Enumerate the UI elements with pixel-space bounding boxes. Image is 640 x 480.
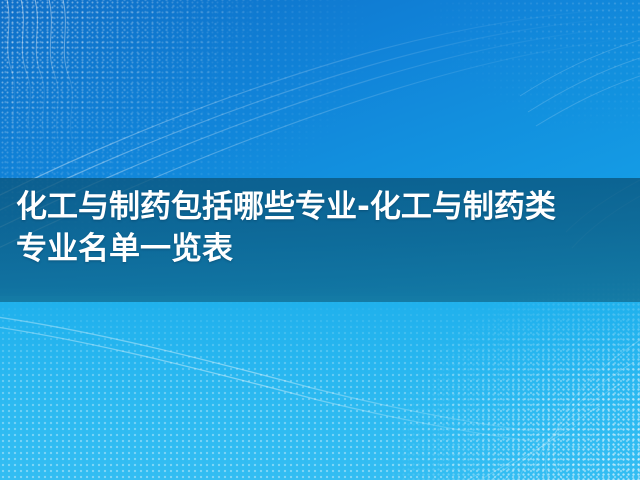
page-title: 化工与制药包括哪些专业-化工与制药类 专业名单一览表: [16, 186, 636, 270]
banner-image: 化工与制药包括哪些专业-化工与制药类 专业名单一览表: [0, 0, 640, 480]
background-lower-gradient: [0, 296, 640, 480]
